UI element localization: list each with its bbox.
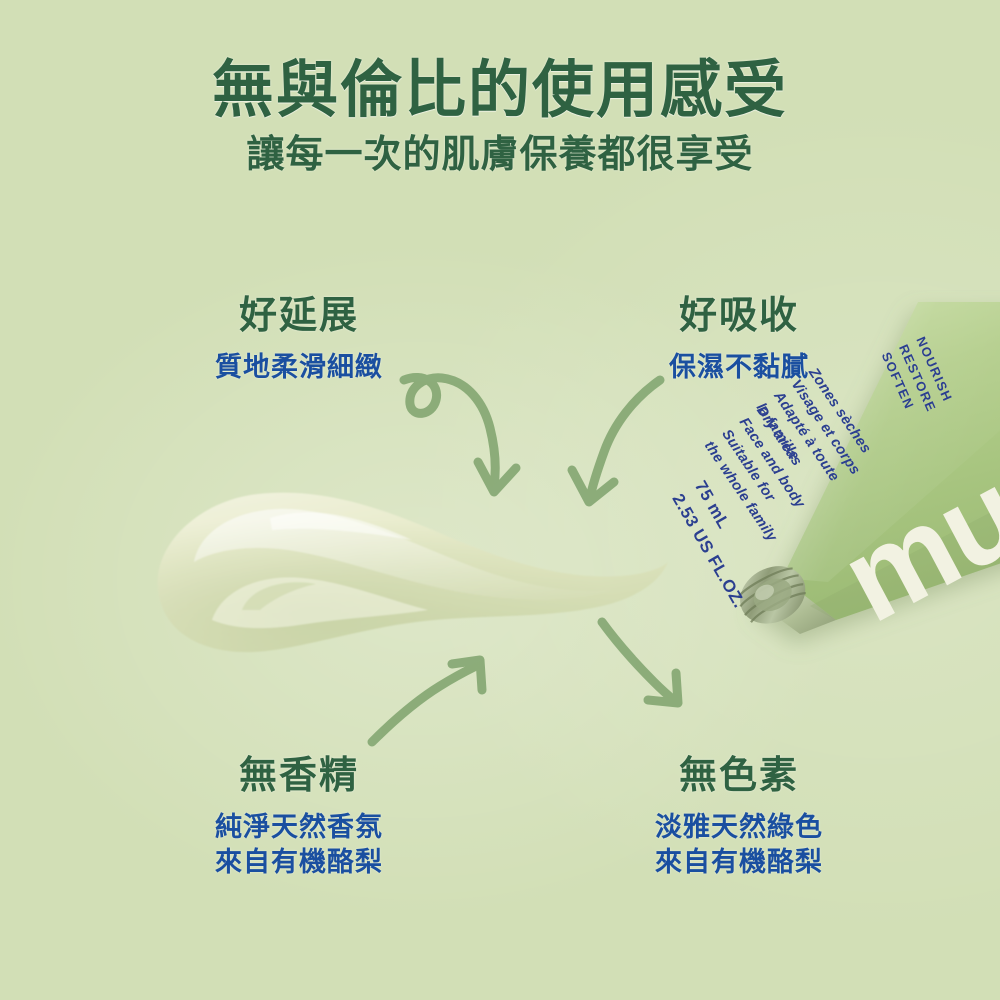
feature-title: 無香精: [134, 756, 464, 798]
page-title: 無與倫比的使用感受: [0, 58, 1000, 124]
feature-subtitle-line: 保濕不黏膩: [574, 350, 904, 385]
feature-subtitle-line: 來自有機酪梨: [574, 845, 904, 880]
feature-subtitle: 質地柔滑細緻: [134, 350, 464, 385]
headline-block: 無與倫比的使用感受 讓每一次的肌膚保養都很享受: [0, 58, 1000, 177]
page-subtitle: 讓每一次的肌膚保養都很享受: [0, 134, 1000, 178]
feature-subtitle-line: 來自有機酪梨: [134, 845, 464, 880]
feature-title: 好延展: [134, 296, 464, 338]
feature-subtitle-line: 淡雅天然綠色: [574, 810, 904, 845]
feature-title: 無色素: [574, 756, 904, 798]
feature-subtitle: 保濕不黏膩: [574, 350, 904, 385]
feature-spreadability: 好延展 質地柔滑細緻: [134, 296, 464, 385]
feature-title: 好吸收: [574, 296, 904, 338]
cream-texture-swatch: [150, 470, 670, 690]
product-feature-poster: 無與倫比的使用感受 讓每一次的肌膚保養都很享受: [0, 0, 1000, 1000]
feature-colorant-free: 無色素 淡雅天然綠色 來自有機酪梨: [574, 756, 904, 880]
feature-subtitle-line: 純淨天然香氛: [134, 810, 464, 845]
feature-subtitle: 淡雅天然綠色 來自有機酪梨: [574, 810, 904, 880]
feature-subtitle: 純淨天然香氛 來自有機酪梨: [134, 810, 464, 880]
feature-absorption: 好吸收 保濕不黏膩: [574, 296, 904, 385]
feature-subtitle-line: 質地柔滑細緻: [134, 350, 464, 385]
feature-fragrance-free: 無香精 純淨天然香氛 來自有機酪梨: [134, 756, 464, 880]
